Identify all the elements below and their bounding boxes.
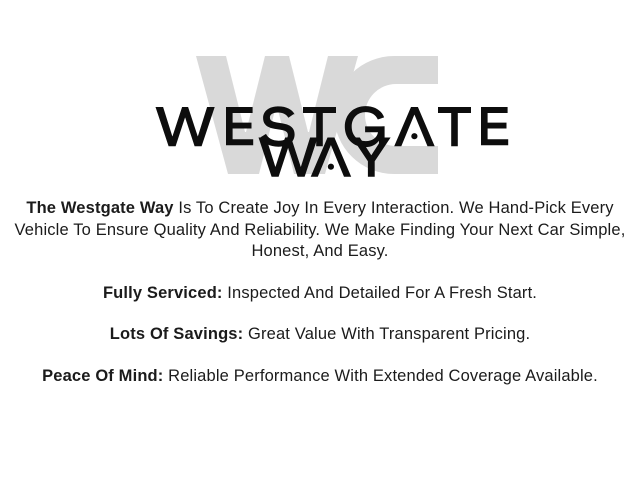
paragraph-text: Great Value With Transparent Pricing. (243, 325, 530, 343)
paragraph-lead: Lots Of Savings: (110, 325, 244, 343)
paragraph-peace-of-mind: Peace Of Mind: Reliable Performance With… (0, 366, 640, 388)
paragraph-lead: The Westgate Way (26, 199, 173, 217)
paragraph-text: Reliable Performance With Extended Cover… (163, 367, 597, 385)
value-proposition-copy: The Westgate Way Is To Create Joy In Eve… (0, 198, 640, 387)
paragraph-text: Inspected And Detailed For A Fresh Start… (223, 284, 537, 302)
paragraph-lead: Fully Serviced: (103, 284, 223, 302)
dealership-logo-lockup (0, 52, 640, 178)
promo-panel: The Westgate Way Is To Create Joy In Eve… (0, 0, 640, 480)
westgate-way-wordmark (0, 90, 640, 178)
paragraph-lots-of-savings: Lots Of Savings: Great Value With Transp… (0, 324, 640, 346)
paragraph-lead: Peace Of Mind: (42, 367, 163, 385)
paragraph-westgate-way: The Westgate Way Is To Create Joy In Eve… (0, 198, 640, 263)
paragraph-fully-serviced: Fully Serviced: Inspected And Detailed F… (0, 283, 640, 305)
